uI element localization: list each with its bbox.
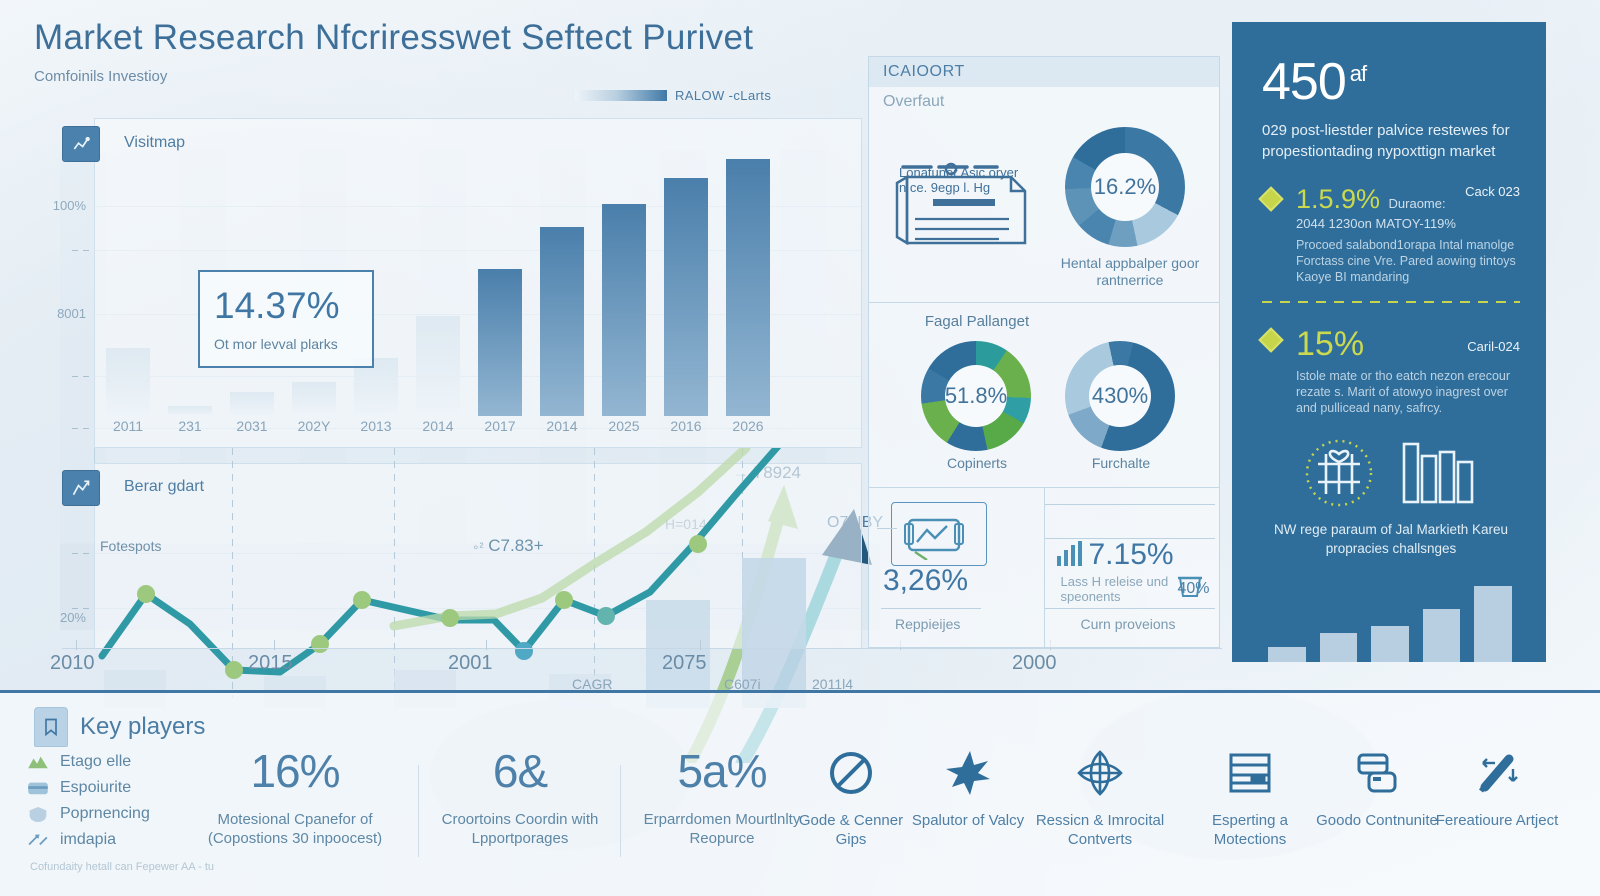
bottom-icon-item[interactable]: Esperting a Motections bbox=[1185, 745, 1315, 849]
document-scribble-text: Lonatuner Asic oryer n ce. 9egp l. Hg bbox=[899, 165, 1019, 195]
kpi-block-2: 7.15% Lass H releise und speonents 40% C… bbox=[1044, 488, 1220, 648]
highlight-mini-bars bbox=[1268, 576, 1512, 662]
bottom-stat-caption: Croortoins Coordin with Lpportporages bbox=[420, 810, 620, 848]
x-axis-label: 2015 bbox=[248, 652, 293, 675]
x-axis-tick bbox=[486, 640, 487, 650]
pen-icon bbox=[1432, 745, 1562, 801]
legend-label: RALOW -cLarts bbox=[675, 88, 771, 103]
bar bbox=[168, 406, 212, 416]
key-player-label: Poprnencing bbox=[60, 805, 150, 823]
shield-icon bbox=[26, 806, 50, 822]
bottom-icon-label: Fereatioure Artject bbox=[1432, 811, 1562, 830]
cards-icon bbox=[1312, 745, 1442, 801]
arrow-icon bbox=[26, 832, 50, 848]
x-axis-label: 2001 bbox=[448, 652, 493, 675]
highlight-stat-1: Cack 023 1.5.9% Duraome: 2044 1230on MAT… bbox=[1262, 184, 1520, 285]
key-player-item[interactable]: imdapia bbox=[26, 831, 150, 849]
donut-1-hole: 16.2% bbox=[1091, 153, 1159, 221]
charts-panel: 100% 8001 20% Visitmap 20112312031202Y20… bbox=[32, 118, 862, 648]
x-axis-tick bbox=[76, 640, 77, 650]
key-player-label: imdapia bbox=[60, 831, 116, 849]
diamond-bullet-icon bbox=[1258, 186, 1283, 211]
bar bbox=[230, 392, 274, 416]
highlight-stat-2-value: 15% bbox=[1296, 325, 1364, 364]
gridline-dash bbox=[72, 250, 94, 251]
donut-1-caption: Hental appbalper goor rantnerrice bbox=[1055, 255, 1205, 289]
donut-3-bottom-caption: Furchalte bbox=[1051, 455, 1191, 471]
donut-2-value: 51.8% bbox=[945, 383, 1007, 409]
mini-bar bbox=[1268, 647, 1306, 662]
diamond-bullet-icon bbox=[1258, 327, 1283, 352]
globe-gift-icon bbox=[1302, 436, 1376, 510]
mini-bar bbox=[1371, 626, 1409, 662]
bar-fill bbox=[540, 227, 584, 416]
x-axis-label: 2000 bbox=[1012, 652, 1057, 675]
bottom-icon-label: Goodo Contnunite bbox=[1312, 811, 1442, 830]
gridline-dash bbox=[72, 376, 94, 377]
bar bbox=[292, 382, 336, 416]
highlight-divider bbox=[1262, 301, 1520, 303]
mini-bar bbox=[1320, 633, 1358, 662]
bottom-icon-item[interactable]: Spalutor of Valcy bbox=[903, 745, 1033, 830]
bottom-icon-label: Gode & Cenner Gips bbox=[786, 811, 916, 849]
bar bbox=[106, 348, 150, 416]
key-player-label: Espoiurite bbox=[60, 779, 131, 797]
key-player-item[interactable]: Etago elle bbox=[26, 753, 150, 771]
bar-fill bbox=[416, 316, 460, 416]
bar-fill bbox=[478, 269, 522, 416]
key-player-item[interactable]: Espoiurite bbox=[26, 779, 150, 797]
bookmark-icon bbox=[34, 707, 68, 747]
report-overview-section: Overfaut Lonatuner Asic oryer n ce. 9egp… bbox=[869, 87, 1219, 303]
kpi-2-caption: Curn proveions bbox=[1081, 616, 1176, 632]
chart-legend: RALOW -cLarts bbox=[575, 88, 771, 103]
donut-chart-2: 51.8% bbox=[921, 341, 1031, 451]
star-burst-icon bbox=[903, 745, 1033, 801]
bar-fill bbox=[106, 348, 150, 416]
mini-bar bbox=[1423, 609, 1461, 662]
bottom-icon-label: Esperting a Motections bbox=[1185, 811, 1315, 849]
donut-3-hole: 430% bbox=[1089, 365, 1151, 427]
card-icon bbox=[26, 780, 50, 796]
bottom-icon-item[interactable]: Goodo Contnunite bbox=[1312, 745, 1442, 830]
network-icon bbox=[1035, 745, 1165, 801]
donut-chart-3: 430% bbox=[1065, 341, 1175, 451]
bottom-icon-item[interactable]: Fereatioure Artject bbox=[1432, 745, 1562, 830]
bar-fill bbox=[726, 159, 770, 416]
report-panel: ICAIOORT Overfaut Lonatuner Asic oryer n… bbox=[868, 56, 1220, 648]
y-tick-label: 20% bbox=[30, 610, 86, 625]
bottom-icon-label: Ressicn & Imrocital Contverts bbox=[1035, 811, 1165, 849]
no-entry-icon bbox=[786, 745, 916, 801]
header: Market Research Nfcriresswet Seftect Pur… bbox=[34, 18, 854, 85]
donut-3-value: 430% bbox=[1092, 383, 1148, 409]
key-players-title: Key players bbox=[80, 713, 205, 741]
kpi-1-caption: Reppieijes bbox=[895, 616, 960, 632]
bar bbox=[478, 269, 522, 416]
highlight-stat-2: Caril-024 15% Istole mate or tho eatch n… bbox=[1262, 325, 1520, 416]
bar-x-label: 2025 bbox=[594, 418, 654, 434]
key-players-strip: Key players Etago elleEspoiuritePoprnenc… bbox=[0, 690, 1600, 896]
bar-fill bbox=[602, 204, 646, 416]
highlight-stat-2-body: Istole mate or tho eatch nezon erecour r… bbox=[1296, 368, 1520, 416]
signal-bars-icon bbox=[1055, 540, 1089, 568]
x-axis-label: 2010 bbox=[50, 652, 95, 675]
highlight-lede: 029 post-liestder palvice restewes for p… bbox=[1262, 120, 1520, 162]
key-player-label: Etago elle bbox=[60, 753, 131, 771]
gridline-dash bbox=[72, 428, 94, 429]
kpi-2-extra: 40% bbox=[1178, 580, 1210, 598]
key-player-item[interactable]: Poprnencing bbox=[26, 805, 150, 823]
bar-x-label: 2031 bbox=[222, 418, 282, 434]
mountain-icon bbox=[26, 754, 50, 770]
x-axis-tick bbox=[700, 640, 701, 650]
bar-x-label: 2011 bbox=[98, 418, 158, 434]
highlight-icon-row bbox=[1262, 436, 1520, 510]
donut-chart-1: 16.2% bbox=[1065, 127, 1185, 247]
bottom-stat: 16% Motesional Cpanefor of (Copostions 3… bbox=[180, 748, 410, 848]
bar-x-label: 2016 bbox=[656, 418, 716, 434]
donut-1-value: 16.2% bbox=[1094, 174, 1156, 200]
bar-x-label: 202Y bbox=[284, 418, 344, 434]
vertical-separator bbox=[418, 765, 419, 857]
donut-2-bottom-caption: Copinerts bbox=[907, 455, 1047, 471]
highlight-stat-1-body: Procoed salabond1orapa Intal manolge For… bbox=[1296, 237, 1520, 285]
bar bbox=[416, 316, 460, 416]
kpi-block-1: 3,26% Reppieijes bbox=[869, 488, 1044, 648]
report-panel-subtitle: Overfaut bbox=[869, 87, 1219, 111]
vertical-separator bbox=[620, 765, 621, 857]
bottom-stat-number: 6& bbox=[420, 748, 620, 794]
donut-2-hole: 51.8% bbox=[945, 365, 1007, 427]
bar-fill bbox=[664, 178, 708, 416]
kpi-2-note: Lass H releise und speonents bbox=[1061, 574, 1171, 604]
highlight-panel: 450af 029 post-liestder palvice restewes… bbox=[1232, 22, 1546, 662]
gridline-dash bbox=[72, 553, 94, 554]
highlight-stat-2-tag: Caril-024 bbox=[1467, 339, 1520, 354]
kpi-2-value: 7.15% bbox=[1089, 538, 1174, 572]
infographic-root: Market Research Nfcriresswet Seftect Pur… bbox=[0, 0, 1600, 896]
highlight-caption: NW rege paraum of Jal Markieth Kareu pro… bbox=[1262, 520, 1520, 558]
highlight-stat-1-tag: Cack 023 bbox=[1465, 184, 1520, 199]
chart-icon bbox=[62, 126, 100, 162]
mini-bar bbox=[1474, 586, 1512, 662]
bottom-stat: 6& Croortoins Coordin with Lpportporages bbox=[420, 748, 620, 848]
y-tick-label: 100% bbox=[30, 198, 86, 213]
bar bbox=[602, 204, 646, 416]
page-subtitle: Comfoinils Investioy bbox=[34, 68, 854, 85]
bar-x-label: 2013 bbox=[346, 418, 406, 434]
x-axis-label: 2075 bbox=[662, 652, 707, 675]
bar bbox=[726, 159, 770, 416]
bar-x-label: 231 bbox=[160, 418, 220, 434]
bottom-icon-item[interactable]: Ressicn & Imrocital Contverts bbox=[1035, 745, 1165, 849]
bar-x-label: 2014 bbox=[408, 418, 468, 434]
report-panel-title: ICAIOORT bbox=[869, 57, 1219, 87]
fineprint: Cofundaity hetall can Fepewer AA - tu bbox=[30, 861, 214, 873]
page-title: Market Research Nfcriresswet Seftect Pur… bbox=[34, 18, 854, 58]
bottom-icon-item[interactable]: Gode & Cenner Gips bbox=[786, 745, 916, 849]
legend-gradient-swatch bbox=[575, 90, 667, 101]
bar-x-label: 2014 bbox=[532, 418, 592, 434]
bar-stack-icon bbox=[1402, 440, 1480, 506]
callout-label: Ot mor levval plarks bbox=[214, 336, 358, 352]
analytics-icon bbox=[903, 512, 979, 560]
y-tick-label: 8001 bbox=[30, 306, 86, 321]
bottom-stat-number: 16% bbox=[180, 748, 410, 794]
report-kpi-section: 3,26% Reppieijes 7.15% Lass H releise un… bbox=[869, 488, 1219, 648]
window-icon bbox=[1185, 745, 1315, 801]
bar-x-label: 2026 bbox=[718, 418, 778, 434]
gridline-dash bbox=[72, 608, 94, 609]
main-x-axis bbox=[62, 648, 1222, 649]
bar bbox=[664, 178, 708, 416]
line-inline-value: ∘² C7.83+ bbox=[472, 536, 544, 556]
callout-box: 14.37% Ot mor levval plarks bbox=[198, 270, 374, 368]
callout-value: 14.37% bbox=[214, 287, 358, 324]
highlight-big-number: 450af bbox=[1262, 56, 1520, 108]
bar-x-label: 2017 bbox=[470, 418, 530, 434]
bottom-icon-label: Spalutor of Valcy bbox=[903, 811, 1033, 830]
bar-fill bbox=[230, 392, 274, 416]
kpi-1-value: 3,26% bbox=[883, 564, 968, 598]
x-axis-tick bbox=[274, 640, 275, 650]
highlight-stat-1-value: 1.5.9% bbox=[1296, 184, 1380, 215]
bar-fill bbox=[292, 382, 336, 416]
donut-2-top-caption: Fagal Pallanget bbox=[907, 313, 1047, 330]
key-players-header: Key players bbox=[34, 707, 205, 747]
key-players-list: Etago elleEspoiuritePoprnencingimdapia bbox=[26, 753, 150, 857]
bar-fill bbox=[168, 406, 212, 416]
bottom-stat-caption: Motesional Cpanefor of (Copostions 30 in… bbox=[180, 810, 410, 848]
bar bbox=[540, 227, 584, 416]
report-donuts-section: Fagal Pallanget 51.8% Copinerts 430% Fur… bbox=[869, 303, 1219, 488]
